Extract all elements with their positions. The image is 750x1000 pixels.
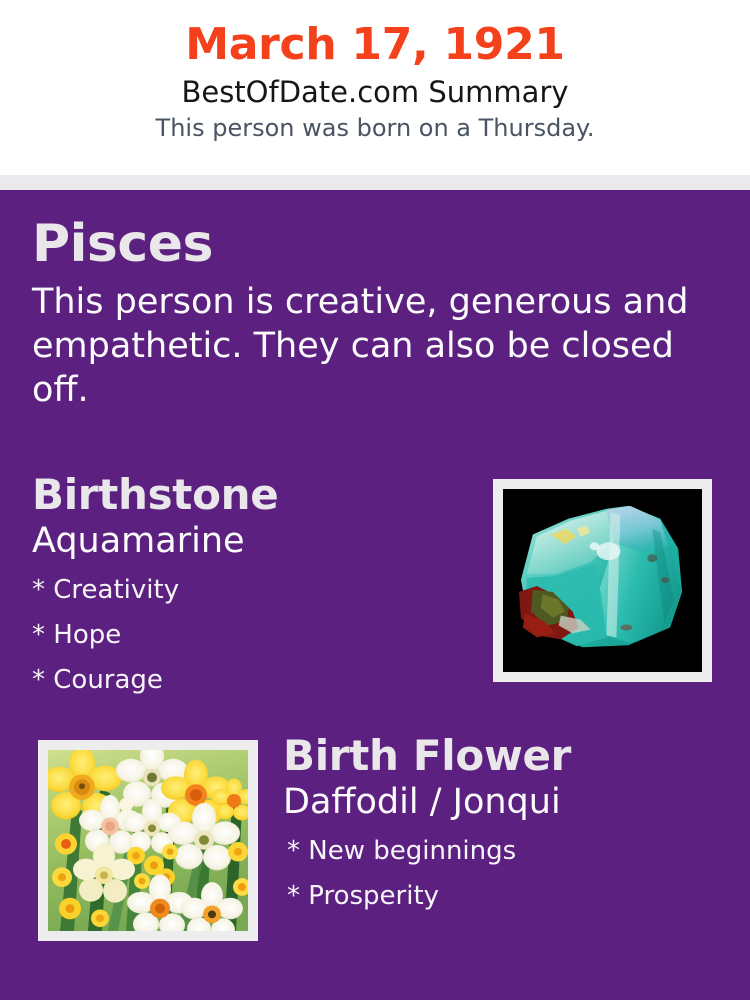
- gem-specular-highlight: [597, 542, 621, 560]
- birth-flower-section: Birth Flower Daffodil / Jonqui * New beg…: [283, 733, 733, 920]
- gem-specular-dot: [590, 542, 600, 550]
- birth-flower-image-frame: [38, 740, 258, 941]
- birthstone-trait-list: * Creativity * Hope * Courage: [32, 568, 472, 702]
- daffodil-field-icon: [48, 750, 248, 931]
- birthstone-heading: Birthstone: [32, 472, 472, 518]
- birthstone-name: Aquamarine: [32, 520, 472, 562]
- list-item: * Courage: [32, 658, 472, 703]
- birth-flower-name: Daffodil / Jonqui: [283, 781, 733, 823]
- birth-flower-image: [48, 750, 248, 931]
- site-name-subtitle: BestOfDate.com Summary: [0, 74, 750, 110]
- list-item: * Hope: [32, 613, 472, 658]
- aquamarine-crystal-icon: [503, 489, 702, 672]
- zodiac-section: Pisces This person is creative, generous…: [32, 216, 722, 412]
- page-title-date: March 17, 1921: [0, 22, 750, 68]
- gem-speck-2: [661, 577, 669, 583]
- birthstone-section: Birthstone Aquamarine * Creativity * Hop…: [32, 472, 472, 702]
- weekday-statement: This person was born on a Thursday.: [0, 113, 750, 143]
- zodiac-description: This person is creative, generous and em…: [32, 280, 702, 412]
- birthstone-image-frame: [493, 479, 712, 682]
- list-item: * Prosperity: [287, 874, 733, 919]
- birth-flower-trait-list: * New beginnings * Prosperity: [283, 829, 733, 919]
- gem-speck-1: [647, 554, 657, 562]
- page-header: March 17, 1921 BestOfDate.com Summary Th…: [0, 0, 750, 175]
- zodiac-sign-heading: Pisces: [32, 216, 722, 272]
- list-item: * Creativity: [32, 568, 472, 613]
- header-divider: [0, 175, 750, 190]
- list-item: * New beginnings: [287, 829, 733, 874]
- summary-page: March 17, 1921 BestOfDate.com Summary Th…: [0, 0, 750, 1000]
- gem-speck-3: [620, 625, 632, 631]
- birth-flower-heading: Birth Flower: [283, 733, 733, 779]
- birthstone-image: [503, 489, 702, 672]
